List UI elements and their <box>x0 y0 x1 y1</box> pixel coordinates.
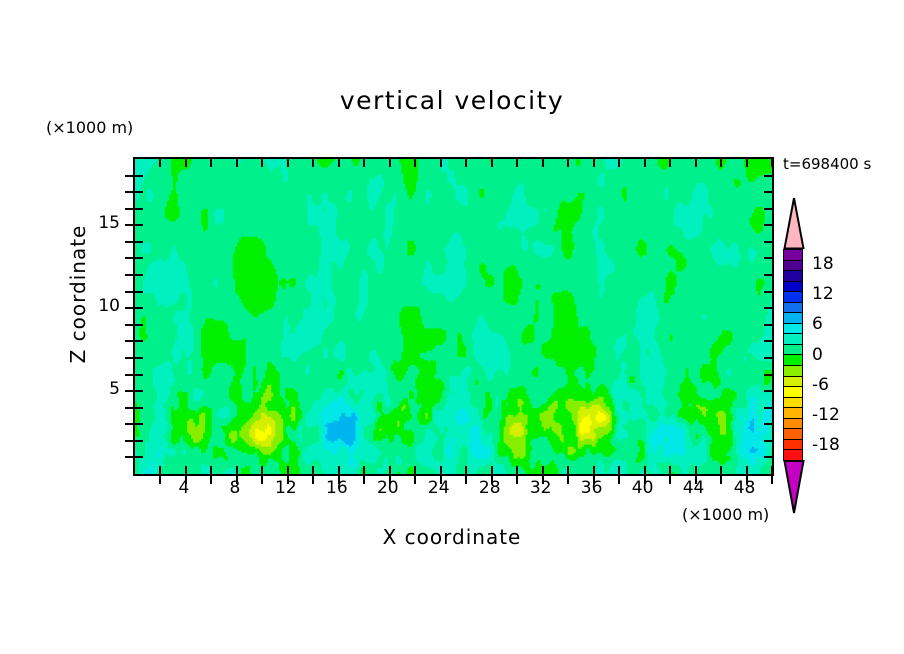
x-tick-inner <box>287 466 289 474</box>
y-tick-inner <box>135 357 143 359</box>
x-tick-inner <box>771 466 773 474</box>
x-tick-top <box>567 159 569 167</box>
y-tick-right <box>764 241 772 243</box>
x-tick-inner <box>695 466 697 474</box>
x-tick <box>669 476 671 484</box>
colorbar-bands <box>783 249 803 460</box>
y-tick-inner <box>135 191 143 193</box>
x-tick-top <box>363 159 365 167</box>
x-tick-inner <box>618 466 620 474</box>
x-tick-top <box>720 159 722 167</box>
y-tick <box>125 208 133 210</box>
y-tick-inner <box>135 423 143 425</box>
x-tick-label: 8 <box>229 478 240 498</box>
y-tick <box>125 291 133 293</box>
x-tick <box>414 476 416 484</box>
x-tick-inner <box>669 466 671 474</box>
y-tick-inner <box>135 175 143 177</box>
x-tick <box>363 476 365 484</box>
x-tick-top <box>261 159 263 167</box>
y-tick <box>125 324 133 326</box>
x-tick-inner <box>338 466 340 474</box>
x-tick-top <box>440 159 442 167</box>
y-tick <box>125 191 133 193</box>
x-tick-top <box>669 159 671 167</box>
y-tick-inner <box>135 324 143 326</box>
y-axis-title: Z coordinate <box>66 194 90 394</box>
y-tick <box>125 357 133 359</box>
y-tick-label: 5 <box>90 379 120 399</box>
x-tick-top <box>159 159 161 167</box>
x-tick-inner <box>491 466 493 474</box>
y-tick <box>125 274 133 276</box>
y-tick <box>125 257 133 259</box>
y-tick <box>125 423 133 425</box>
y-tick-inner <box>135 340 143 342</box>
x-tick-top <box>644 159 646 167</box>
x-tick-label: 32 <box>530 478 552 498</box>
contour-svg <box>135 159 772 474</box>
contour-plot-area[interactable] <box>133 157 774 476</box>
x-tick <box>159 476 161 484</box>
x-tick-inner <box>465 466 467 474</box>
page-title: vertical velocity <box>0 86 904 115</box>
colorbar-tick-label: 0 <box>812 345 823 365</box>
x-tick-label: 20 <box>377 478 399 498</box>
x-tick-inner <box>567 466 569 474</box>
x-tick-top <box>389 159 391 167</box>
x-tick-top <box>465 159 467 167</box>
colorbar-tick-label: -12 <box>812 405 840 425</box>
x-tick-top <box>312 159 314 167</box>
y-tick-right <box>764 407 772 409</box>
y-tick-inner <box>135 456 143 458</box>
y-tick-inner <box>135 224 143 226</box>
x-tick <box>618 476 620 484</box>
x-tick-inner <box>644 466 646 474</box>
y-tick <box>125 456 133 458</box>
x-tick-top <box>746 159 748 167</box>
y-tick-inner <box>135 407 143 409</box>
x-tick-top <box>185 159 187 167</box>
x-tick-label: 4 <box>179 478 190 498</box>
y-tick-right <box>764 257 772 259</box>
x-tick-inner <box>389 466 391 474</box>
y-tick <box>125 340 133 342</box>
y-tick-right <box>764 324 772 326</box>
y-tick-inner <box>135 274 143 276</box>
x-tick-top <box>236 159 238 167</box>
y-axis-unit-label: (×1000 m) <box>46 118 133 137</box>
y-tick-inner <box>135 374 143 376</box>
x-tick <box>312 476 314 484</box>
y-tick <box>125 407 133 409</box>
x-tick <box>771 476 773 484</box>
x-tick-top <box>414 159 416 167</box>
y-tick-inner <box>135 390 143 392</box>
x-axis-unit-label: (×1000 m) <box>682 505 769 524</box>
x-tick-label: 28 <box>479 478 501 498</box>
contour-field <box>135 159 772 474</box>
x-tick-inner <box>312 466 314 474</box>
y-tick-label: 15 <box>90 213 120 233</box>
x-tick-label: 48 <box>734 478 756 498</box>
y-tick-right <box>764 307 772 309</box>
x-tick-inner <box>414 466 416 474</box>
x-tick-top <box>542 159 544 167</box>
colorbar-under-arrow <box>783 460 805 514</box>
y-tick-inner <box>135 208 143 210</box>
x-axis-title: X coordinate <box>252 525 652 549</box>
x-tick-inner <box>440 466 442 474</box>
y-tick <box>125 374 133 376</box>
y-tick <box>125 241 133 243</box>
x-tick <box>210 476 212 484</box>
y-tick-right <box>764 423 772 425</box>
y-tick <box>125 175 133 177</box>
x-tick <box>261 476 263 484</box>
y-tick-right <box>764 456 772 458</box>
x-tick-inner <box>516 466 518 474</box>
y-tick-label: 10 <box>90 296 120 316</box>
colorbar-tick-label: -6 <box>812 375 829 395</box>
y-tick-right <box>764 274 772 276</box>
x-tick-top <box>695 159 697 167</box>
y-tick-right <box>764 191 772 193</box>
x-tick-inner <box>746 466 748 474</box>
x-tick-inner <box>185 466 187 474</box>
y-tick-right <box>764 440 772 442</box>
x-tick-inner <box>593 466 595 474</box>
x-tick-top <box>287 159 289 167</box>
x-tick-label: 36 <box>581 478 603 498</box>
y-tick-right <box>764 224 772 226</box>
x-tick-top <box>618 159 620 167</box>
y-tick-inner <box>135 307 143 309</box>
y-tick-inner <box>135 440 143 442</box>
colorbar-tick-label: 12 <box>812 284 834 304</box>
y-tick-right <box>764 390 772 392</box>
y-tick-inner <box>135 291 143 293</box>
y-tick-right <box>764 208 772 210</box>
x-tick-top <box>338 159 340 167</box>
x-tick-inner <box>236 466 238 474</box>
x-tick-top <box>491 159 493 167</box>
y-tick <box>125 440 133 442</box>
x-tick-top <box>516 159 518 167</box>
timestamp-annotation: t=698400 s <box>783 155 871 173</box>
y-tick-inner <box>135 241 143 243</box>
x-tick-label: 12 <box>275 478 297 498</box>
x-tick-inner <box>159 466 161 474</box>
x-tick-inner <box>542 466 544 474</box>
y-tick-right <box>764 175 772 177</box>
x-tick-inner <box>363 466 365 474</box>
x-tick-label: 16 <box>326 478 348 498</box>
y-tick-right <box>764 357 772 359</box>
x-tick <box>465 476 467 484</box>
colorbar-over-arrow <box>783 197 805 249</box>
y-tick-inner <box>135 257 143 259</box>
x-tick-inner <box>261 466 263 474</box>
x-tick <box>516 476 518 484</box>
colorbar-tick-label: -18 <box>812 435 840 455</box>
x-tick-inner <box>210 466 212 474</box>
x-tick-label: 44 <box>683 478 705 498</box>
colorbar-tick-label: 6 <box>812 314 823 334</box>
colorbar-tick-label: 18 <box>812 254 834 274</box>
x-tick-top <box>210 159 212 167</box>
x-tick-top <box>593 159 595 167</box>
x-tick-label: 40 <box>632 478 654 498</box>
y-tick-right <box>764 291 772 293</box>
x-tick <box>567 476 569 484</box>
x-tick-label: 24 <box>428 478 450 498</box>
x-tick-top <box>771 159 773 167</box>
y-tick-right <box>764 374 772 376</box>
y-tick-right <box>764 340 772 342</box>
x-tick <box>720 476 722 484</box>
x-tick-inner <box>720 466 722 474</box>
